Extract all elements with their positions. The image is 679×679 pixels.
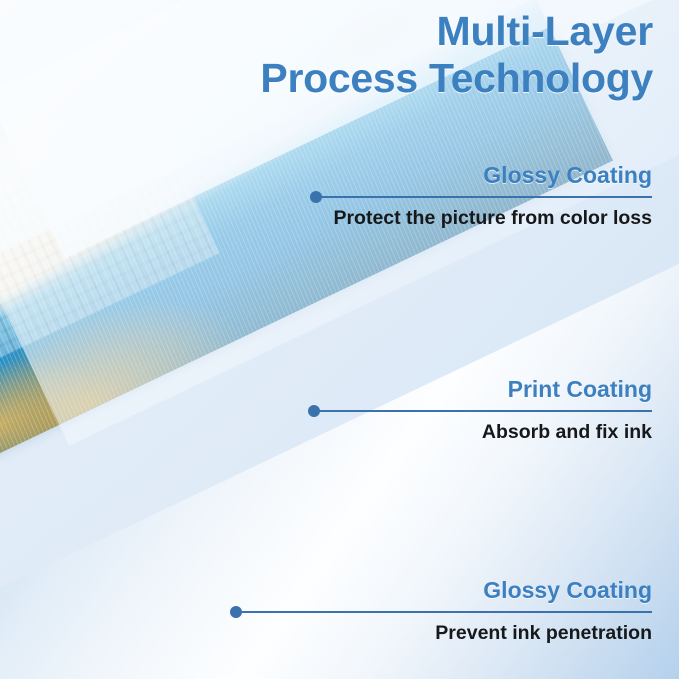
callout-description: Prevent ink penetration [435,622,652,645]
callout-heading: Glossy Coating [333,162,652,189]
callout-glossy-coating-top: Glossy Coating Protect the picture from … [333,162,652,231]
callout-heading: Glossy Coating [435,577,652,604]
callout-leader-line [482,405,652,417]
callout-leader-line [333,191,652,203]
leader-line-stroke [236,611,652,613]
page-title-line-1: Multi-Layer [260,8,653,55]
leader-line-stroke [314,410,652,412]
page-title: Multi-Layer Process Technology [260,8,653,101]
callout-description: Protect the picture from color loss [333,207,652,230]
infographic-canvas: Multi-Layer Process Technology Glossy Co… [0,0,679,679]
leader-line-dot-icon [230,606,242,618]
callout-description: Absorb and fix ink [482,421,652,444]
leader-line-dot-icon [308,405,320,417]
callout-print-coating: Print Coating Absorb and fix ink [482,376,652,445]
callout-glossy-coating-bottom: Glossy Coating Prevent ink penetration [435,577,652,646]
callout-heading: Print Coating [482,376,652,403]
page-title-line-2: Process Technology [260,55,653,102]
leader-line-stroke [316,196,652,198]
callout-leader-line [435,606,652,618]
